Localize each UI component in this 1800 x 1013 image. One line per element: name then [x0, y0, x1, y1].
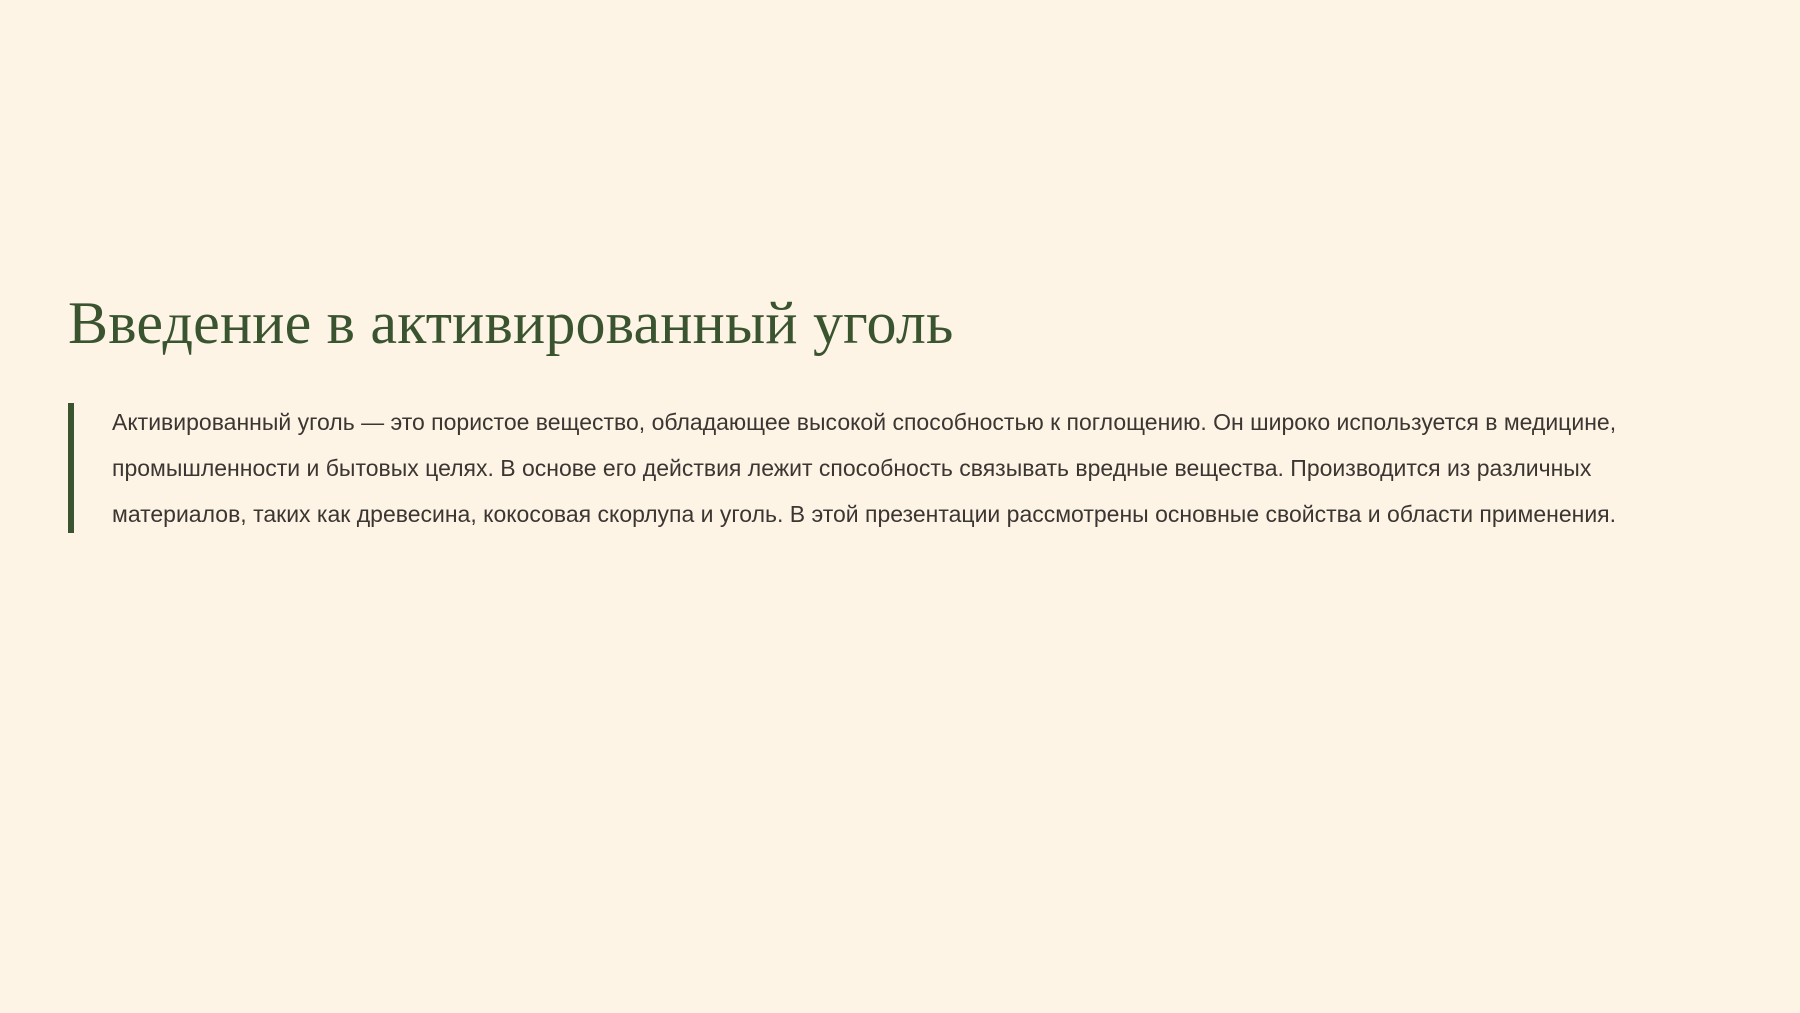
- presentation-slide: Введение в активированный уголь Активиро…: [0, 0, 1800, 1013]
- body-quote-block: Активированный уголь — это пористое веще…: [68, 399, 1668, 537]
- body-paragraph: Активированный уголь — это пористое веще…: [112, 399, 1642, 537]
- slide-content: Введение в активированный уголь Активиро…: [68, 290, 1668, 537]
- accent-bar: [68, 403, 74, 533]
- page-title: Введение в активированный уголь: [68, 290, 1668, 357]
